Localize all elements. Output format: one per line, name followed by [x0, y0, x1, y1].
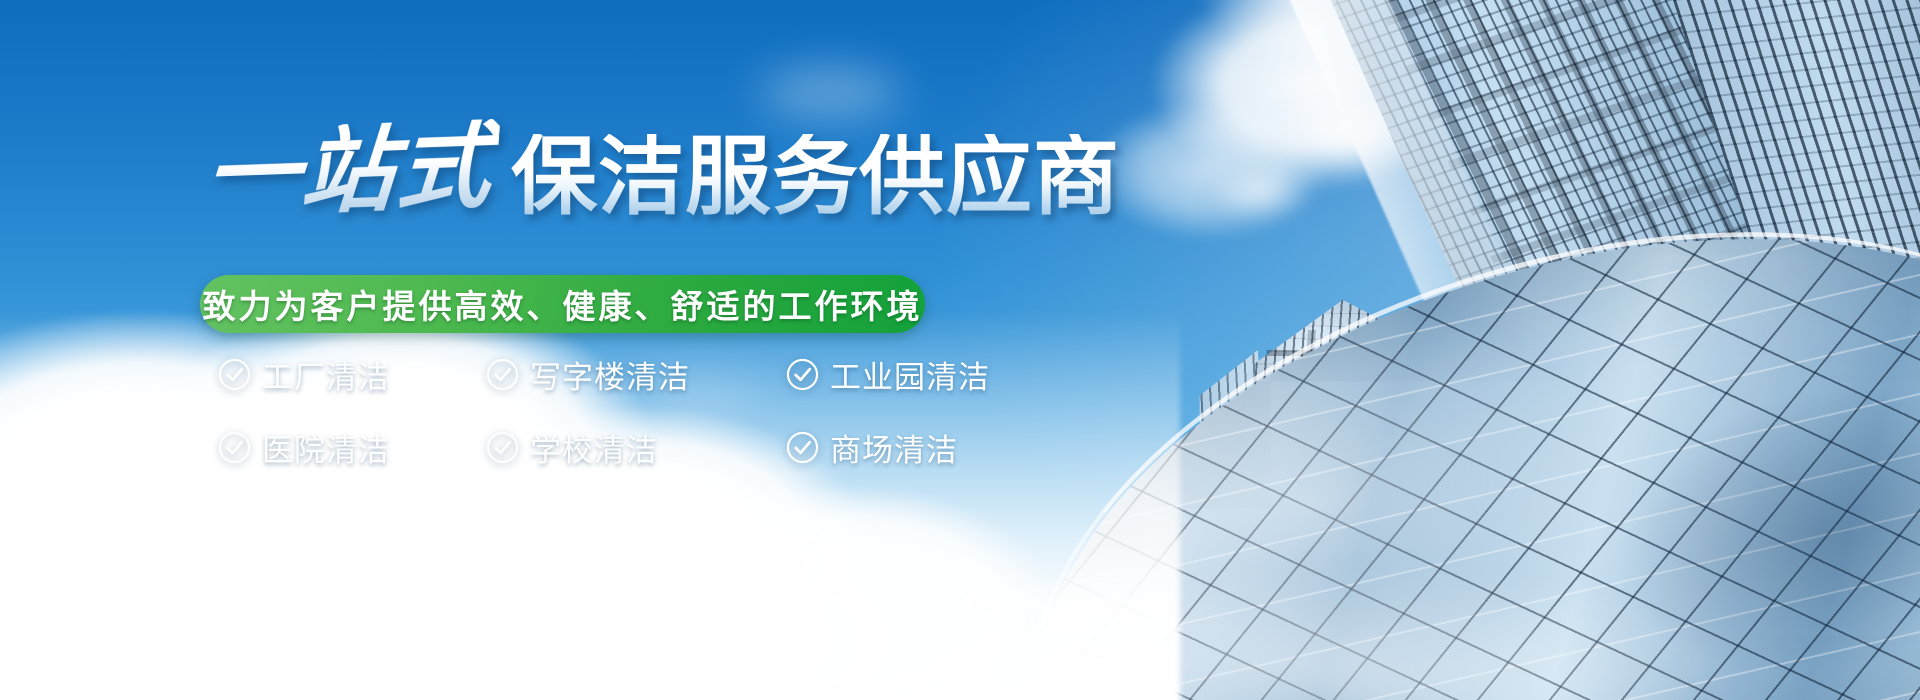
headline: 一站式 保洁服务供应商 — [205, 124, 1120, 222]
subtitle-pill: 致力为客户提供高效、健康、舒适的工作环境 — [200, 275, 925, 333]
feature-label: 商场清洁 — [830, 425, 958, 470]
feature-item-school-cleaning[interactable]: 学校清洁 — [486, 425, 786, 470]
circle-check-icon — [486, 431, 519, 464]
circle-check-icon — [786, 431, 819, 464]
circle-check-icon — [786, 358, 819, 391]
headline-brush-text: 一站式 — [202, 119, 501, 227]
circle-check-icon — [218, 358, 251, 391]
feature-item-industrial-park-cleaning[interactable]: 工业园清洁 — [786, 352, 990, 397]
hero-banner: 一站式 保洁服务供应商 致力为客户提供高效、健康、舒适的工作环境 工厂清洁 写字… — [0, 0, 1920, 700]
feature-list: 工厂清洁 写字楼清洁 工业园清洁 — [218, 352, 990, 470]
feature-item-hospital-cleaning[interactable]: 医院清洁 — [218, 425, 486, 470]
feature-label: 工厂清洁 — [262, 352, 390, 397]
feature-label: 医院清洁 — [262, 425, 390, 470]
banner-content: 一站式 保洁服务供应商 致力为客户提供高效、健康、舒适的工作环境 工厂清洁 写字… — [0, 0, 1000, 700]
feature-item-mall-cleaning[interactable]: 商场清洁 — [786, 425, 990, 470]
headline-solid-text: 保洁服务供应商 — [511, 134, 1120, 222]
circle-check-icon — [486, 358, 519, 391]
feature-item-factory-cleaning[interactable]: 工厂清洁 — [218, 352, 486, 397]
feature-label: 工业园清洁 — [830, 352, 990, 397]
circle-check-icon — [218, 431, 251, 464]
feature-label: 写字楼清洁 — [530, 352, 690, 397]
feature-item-office-building-cleaning[interactable]: 写字楼清洁 — [486, 352, 786, 397]
feature-label: 学校清洁 — [530, 425, 658, 470]
subtitle-text: 致力为客户提供高效、健康、舒适的工作环境 — [203, 280, 923, 328]
